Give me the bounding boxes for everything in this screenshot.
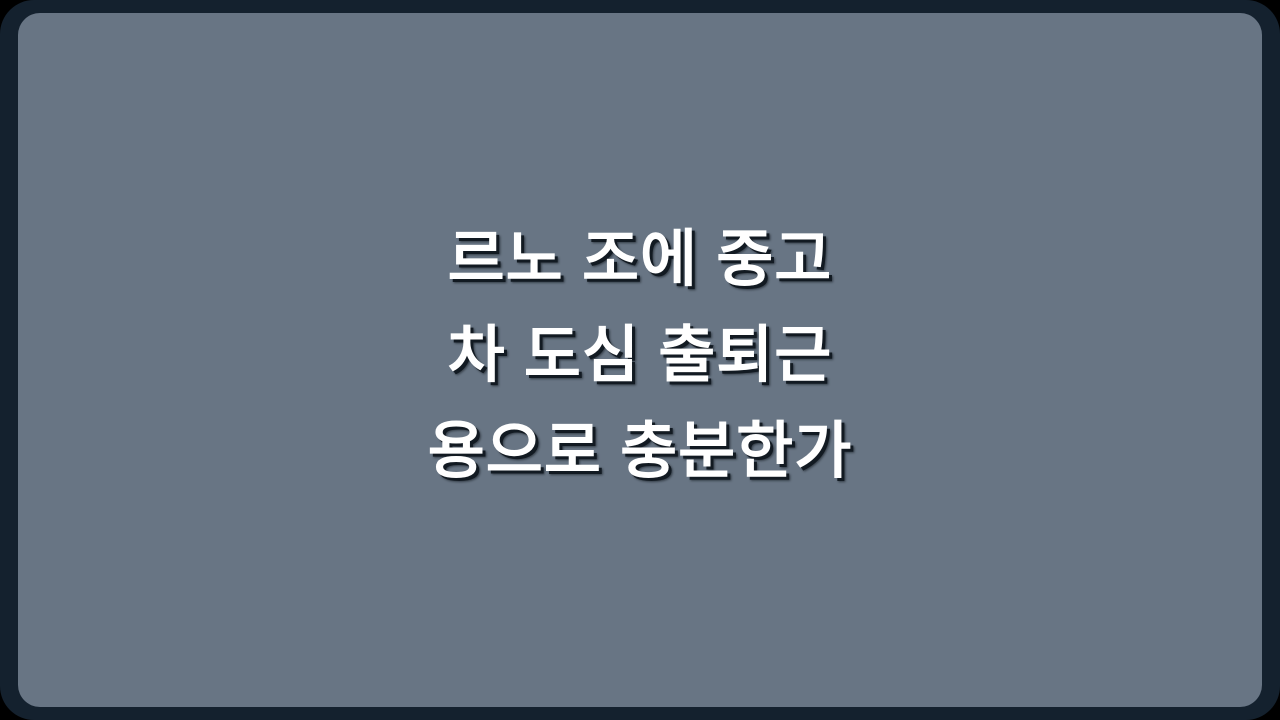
headline-line-2: 차 도심 출퇴근 xyxy=(78,308,1202,404)
card-frame-border: 르노 조에 중고 차 도심 출퇴근 용으로 충분한가 xyxy=(0,0,1280,720)
headline-line-3: 용으로 충분한가 xyxy=(78,404,1202,500)
headline-line-1: 르노 조에 중고 xyxy=(78,212,1202,308)
card-canvas: 르노 조에 중고 차 도심 출퇴근 용으로 충분한가 xyxy=(0,0,1280,720)
card-panel: 르노 조에 중고 차 도심 출퇴근 용으로 충분한가 xyxy=(18,13,1262,707)
headline-block: 르노 조에 중고 차 도심 출퇴근 용으로 충분한가 xyxy=(18,212,1262,500)
